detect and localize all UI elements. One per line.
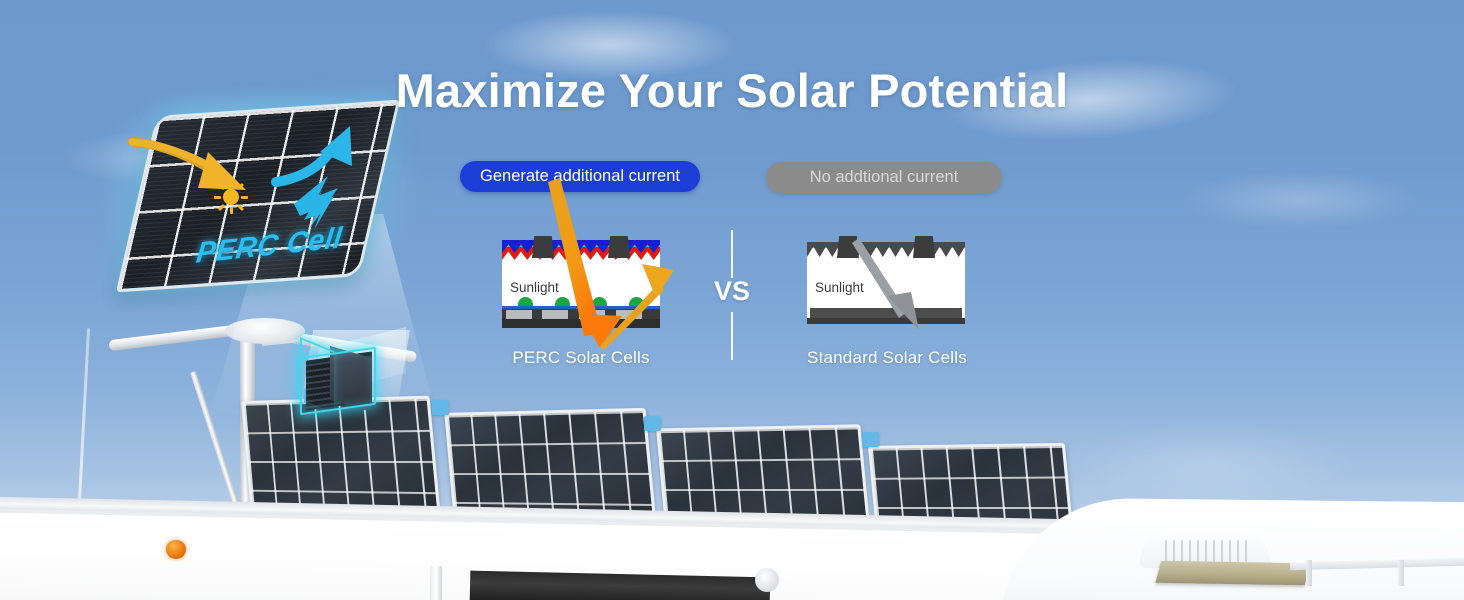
vs-divider-line-bottom	[731, 312, 733, 360]
rv-vent-cover	[1155, 561, 1310, 586]
sunlight-label: Sunlight	[815, 280, 864, 295]
perc-diagram-caption: PERC Solar Cells	[461, 348, 701, 368]
panel-mount-clip	[862, 432, 879, 447]
vs-label: VS	[707, 276, 757, 307]
sun-core	[223, 189, 239, 205]
rv-rail-post	[1306, 560, 1312, 586]
rv-awning-roller	[755, 568, 779, 592]
cyan-lightning-bolt-icon	[118, 104, 418, 300]
standard-diagram-caption: Standard Solar Cells	[767, 348, 1007, 368]
dielectric-segment	[542, 310, 568, 319]
vs-divider-line-top	[731, 230, 733, 278]
back-contact-dot	[518, 297, 533, 306]
cloud-decoration	[1180, 170, 1420, 230]
perc-cell-label: PERC Cell	[194, 222, 344, 271]
badge-no-additional-current: No addtional current	[766, 162, 1002, 193]
wind-turbine-hub	[225, 318, 305, 344]
rear-aluminium-layer	[502, 319, 660, 328]
sunlight-label: Sunlight	[510, 280, 559, 295]
standard-cell-cross-section-diagram: Sunlight	[807, 236, 965, 332]
dielectric-segment	[616, 310, 642, 319]
panel-mount-clip	[644, 416, 661, 431]
rv-antenna	[77, 328, 90, 520]
perc-cell-cross-section-diagram: Sunlight	[502, 236, 660, 332]
gold-incoming-arrow-icon	[118, 104, 418, 300]
sun-icon	[214, 180, 248, 214]
badge-generate-additional-current: Generate additional current	[460, 161, 700, 192]
cell-highlight-box-side	[300, 337, 334, 413]
rv-vent-louvers	[1165, 540, 1250, 562]
rv-marker-light	[166, 540, 186, 559]
back-contact-dot	[629, 297, 644, 306]
front-busbar	[608, 236, 630, 258]
front-busbar	[913, 236, 935, 258]
front-busbar	[837, 236, 859, 258]
floating-perc-cell-panel: PERC Cell	[118, 104, 418, 300]
rv-rail-post	[1398, 560, 1404, 586]
cloud-decoration	[1060, 420, 1360, 510]
dielectric-segment	[579, 310, 605, 319]
back-contact-dot	[555, 297, 570, 306]
back-contact-dot	[592, 297, 607, 306]
rv-awning-arm	[430, 566, 442, 600]
page-title: Maximize Your Solar Potential	[0, 63, 1464, 118]
rear-base-layer	[807, 318, 965, 324]
cyan-reflected-arrow-icon	[118, 104, 418, 300]
front-busbar	[532, 236, 554, 258]
dielectric-segment	[506, 310, 532, 319]
panel-mount-clip	[432, 400, 449, 415]
